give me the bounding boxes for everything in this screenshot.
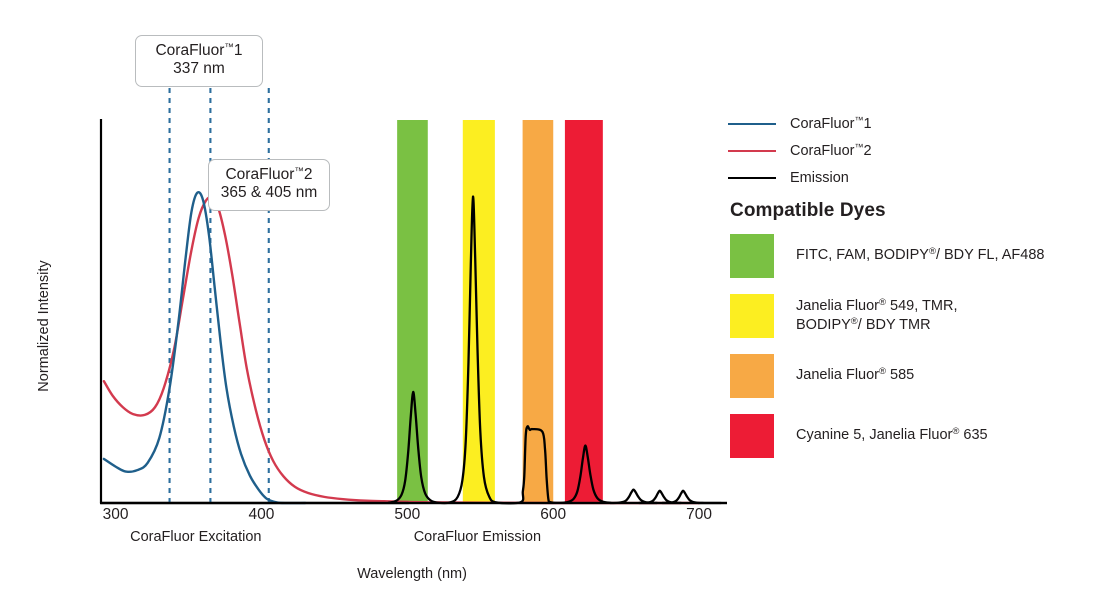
dye-label-line1-text: Janelia Fluor [796,367,879,383]
emission-band-red-band [565,120,603,503]
callout-2-name: CoraFluor [225,166,294,183]
dye-label-line1: Janelia Fluor® 549, TMR, [796,297,957,316]
x-tick-500: 500 [377,506,437,524]
registered-icon: ® [879,297,886,308]
callout-corafluor2: CoraFluor™2 365 & 405 nm [208,159,330,211]
emission-band-green-band [397,120,428,503]
x-tick-300: 300 [86,506,146,524]
legend-row-0[interactable]: CoraFluor™1 [728,110,1100,137]
dye-label: Cyanine 5, Janelia Fluor® 635 [796,426,988,445]
dye-label-line1-text: FITC, FAM, BODIPY [796,247,929,263]
dye-label-line1-text: Cyanine 5, Janelia Fluor [796,427,952,443]
legend-line-swatch [728,177,776,179]
registered-icon: ® [851,316,858,327]
legend-line-swatch [728,150,776,152]
compatible-dyes-list: FITC, FAM, BODIPY®/ BDY FL, AF488Janelia… [730,234,1105,474]
dye-label: Janelia Fluor® 549, TMR,BODIPY®/ BDY TMR [796,297,957,335]
callout-2-line2: 365 & 405 nm [219,184,319,202]
x-tick-700: 700 [669,506,729,524]
dye-label-line1-tail: 585 [886,367,914,383]
trademark-icon: ™ [294,166,304,177]
curve-corafluor1 [104,192,305,503]
emission-band-yellow-band [463,120,495,503]
callout-2-index: 2 [304,166,313,183]
callout-1-name: CoraFluor [155,42,224,59]
emission-band-orange-band [523,120,554,503]
legend-label-index: 1 [863,116,871,132]
series-legend: CoraFluor™1CoraFluor™2Emission [728,110,1100,191]
legend-label: Emission [790,170,849,186]
callout-1-index: 1 [234,42,243,59]
dye-color-swatch [730,294,774,338]
trademark-icon: ™ [224,42,234,53]
dye-row-0[interactable]: FITC, FAM, BODIPY®/ BDY FL, AF488 [730,234,1105,278]
y-axis-title: Normalized Intensity [36,246,52,406]
x-tick-600: 600 [523,506,583,524]
x-tick-400: 400 [231,506,291,524]
dye-label: FITC, FAM, BODIPY®/ BDY FL, AF488 [796,246,1044,265]
dye-color-swatch [730,354,774,398]
dye-label-line2-tail: / BDY TMR [858,317,931,333]
dye-color-swatch [730,234,774,278]
dye-color-swatch [730,414,774,458]
registered-icon: ® [879,366,886,377]
callout-2-line1: CoraFluor™2 [219,166,319,184]
dye-row-3[interactable]: Cyanine 5, Janelia Fluor® 635 [730,414,1105,458]
dye-label-line2: BODIPY®/ BDY TMR [796,316,957,335]
legend-line-swatch [728,123,776,125]
compatible-dyes-heading: Compatible Dyes [730,200,886,222]
legend-label-text: CoraFluor [790,143,854,159]
dye-label-line1-tail: 549, TMR, [886,298,957,314]
dye-row-1[interactable]: Janelia Fluor® 549, TMR,BODIPY®/ BDY TMR [730,294,1105,338]
legend-label-index: 2 [863,143,871,159]
legend-row-1[interactable]: CoraFluor™2 [728,137,1100,164]
dye-label: Janelia Fluor® 585 [796,366,914,385]
dye-row-2[interactable]: Janelia Fluor® 585 [730,354,1105,398]
legend-label: CoraFluor™1 [790,115,872,132]
legend-label-text: CoraFluor [790,116,854,132]
dye-label-line2-text: BODIPY [796,317,851,333]
dye-label-line1-tail: / BDY FL, AF488 [936,247,1045,263]
dye-label-line1: Cyanine 5, Janelia Fluor® 635 [796,426,988,445]
spectra-figure: CoraFluor™1 337 nm CoraFluor™2 365 & 405… [0,0,1110,612]
emission-range-label: CoraFluor Emission [367,529,587,545]
dye-label-line1-tail: 635 [959,427,987,443]
registered-icon: ® [929,246,936,257]
dye-label-line1: Janelia Fluor® 585 [796,366,914,385]
x-axis-title: Wavelength (nm) [0,566,824,582]
legend-row-2[interactable]: Emission [728,164,1100,191]
excitation-range-label: CoraFluor Excitation [86,529,306,545]
callout-1-line2: 337 nm [146,60,252,78]
callout-1-line1: CoraFluor™1 [146,42,252,60]
dye-label-line1: FITC, FAM, BODIPY®/ BDY FL, AF488 [796,246,1044,265]
legend-label: CoraFluor™2 [790,142,872,159]
dye-label-line1-text: Janelia Fluor [796,298,879,314]
callout-corafluor1: CoraFluor™1 337 nm [135,35,263,87]
legend-label-text: Emission [790,170,849,186]
